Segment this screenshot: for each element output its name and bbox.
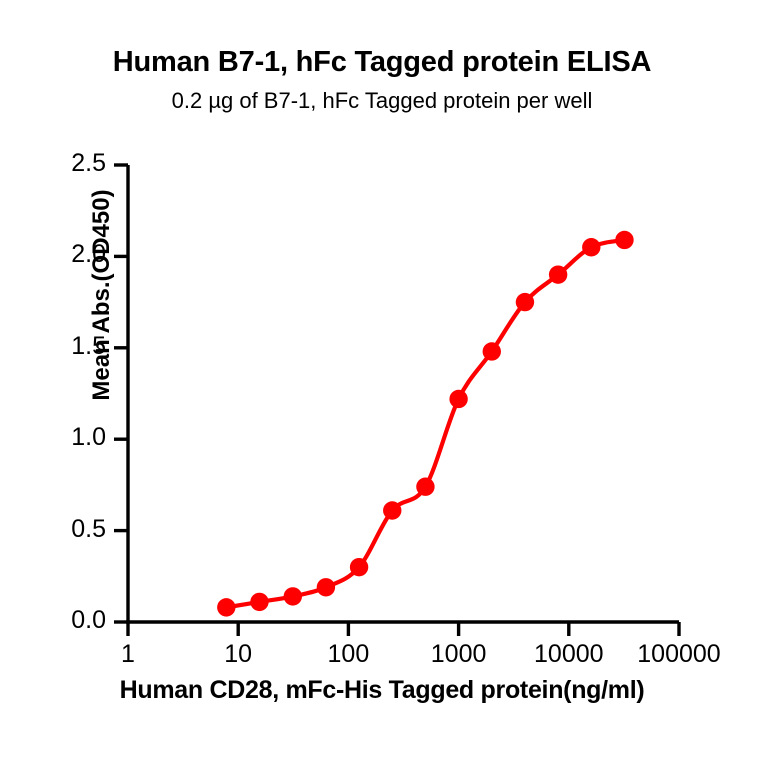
fitted-curve: [226, 240, 624, 607]
data-point: [516, 293, 534, 311]
y-tick-label: 2.5: [36, 149, 106, 178]
data-point: [284, 587, 302, 605]
elisa-chart-figure: Human B7-1, hFc Tagged protein ELISA 0.2…: [0, 0, 764, 764]
axis-lines: [126, 165, 679, 624]
y-tick-label: 1.5: [36, 332, 106, 361]
data-point: [449, 390, 467, 408]
data-point: [416, 478, 434, 496]
data-point: [582, 238, 600, 256]
data-point: [483, 342, 501, 360]
data-curve: [226, 240, 624, 607]
data-point: [217, 598, 235, 616]
data-point: [549, 265, 567, 283]
x-tick-label: 100000: [609, 640, 749, 669]
data-point: [383, 501, 401, 519]
data-point: [615, 231, 633, 249]
y-tick-label: 0.0: [36, 606, 106, 635]
data-point: [250, 593, 268, 611]
data-point: [317, 578, 335, 596]
y-tick-label: 2.0: [36, 240, 106, 269]
data-points: [217, 231, 634, 617]
y-tick-label: 1.0: [36, 423, 106, 452]
y-tick-label: 0.5: [36, 515, 106, 544]
data-point: [350, 558, 368, 576]
axis-ticks: [114, 165, 679, 636]
